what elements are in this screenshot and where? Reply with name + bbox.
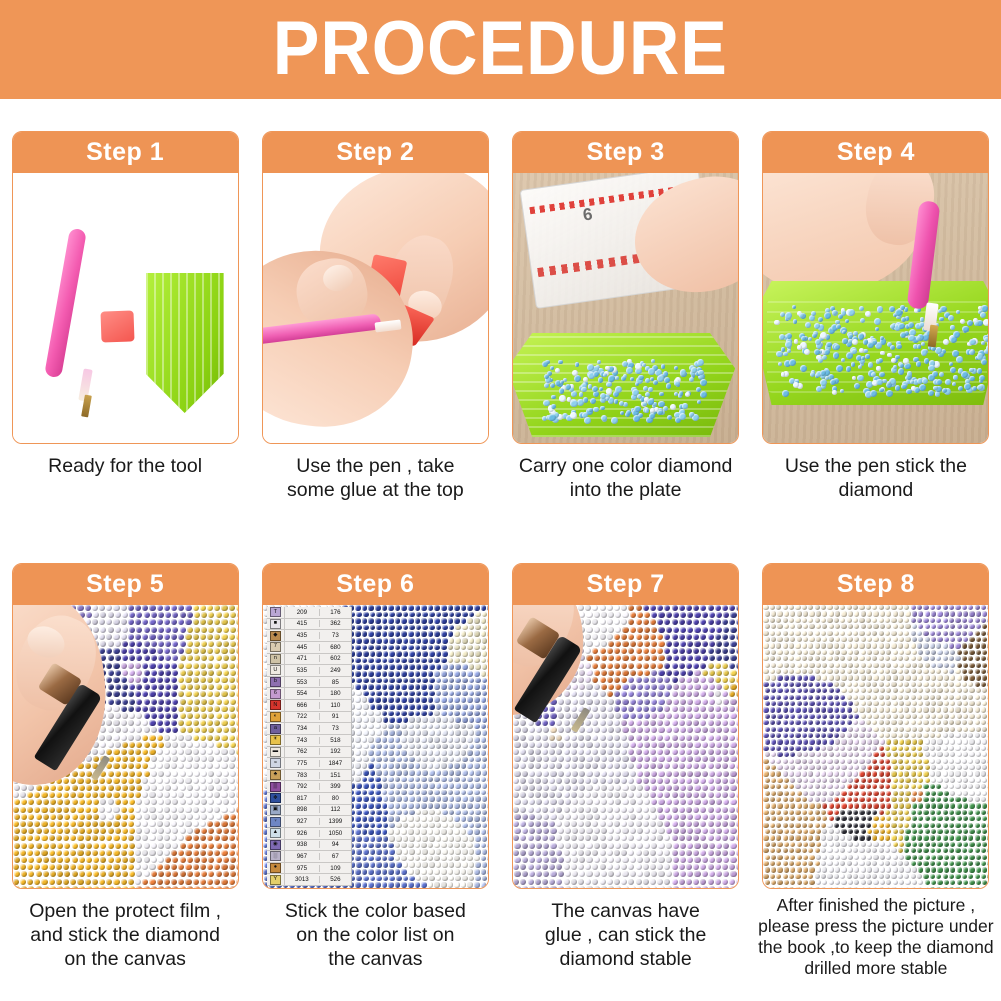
diamond-bead: [481, 645, 487, 651]
diamond-bead: [514, 756, 520, 762]
diamond-bead: [535, 735, 541, 741]
diamond-bead: [180, 727, 186, 733]
diamond-bead: [236, 807, 238, 813]
color-swatch: ◉: [270, 840, 281, 850]
diamond-bead: [434, 816, 440, 822]
diamond-bead: [650, 720, 656, 726]
diamond-bead: [454, 711, 460, 717]
diamond-bead: [687, 871, 693, 877]
diamond-bead: [13, 879, 19, 885]
diamond-bead: [565, 699, 571, 705]
diamond-bead: [108, 771, 114, 777]
diamond-bead: [389, 810, 395, 816]
diamond-bead: [355, 631, 361, 637]
color-swatch: 7: [270, 642, 281, 652]
diamond-bead: [229, 850, 235, 856]
diamond-bead: [382, 790, 388, 796]
diamond-bead: [136, 684, 142, 690]
diamond-bead: [375, 803, 381, 809]
diamond-bead: [481, 750, 487, 756]
diamond-bead: [715, 619, 721, 625]
diamond-bead: [389, 704, 395, 710]
diamond-bead: [487, 618, 488, 624]
diamond-bead: [529, 857, 535, 863]
diamond-bead: [708, 691, 714, 697]
diamond-bead: [185, 720, 191, 726]
diamond-bead: [449, 823, 455, 829]
color-chart-count-cell: 85: [320, 679, 351, 686]
diamond-bead: [164, 706, 170, 712]
diamond-bead: [49, 807, 55, 813]
diamond-bead: [106, 763, 112, 769]
diamond-bead: [442, 757, 448, 763]
diamond-bead: [216, 828, 222, 834]
diamond-bead: [475, 651, 481, 657]
diamond-bead: [543, 785, 549, 791]
diamond-bead: [122, 612, 128, 618]
diamond-bead: [429, 744, 435, 750]
diamond-bead: [645, 392, 650, 397]
diamond-bead: [637, 771, 643, 777]
diamond-bead: [559, 395, 566, 402]
diamond-bead: [122, 627, 128, 633]
diamond-bead: [628, 735, 634, 741]
diamond-bead: [594, 871, 600, 877]
diamond-bead: [549, 835, 555, 841]
step-7-photo: [513, 605, 738, 888]
diamond-bead: [388, 882, 394, 888]
diamond-bead: [637, 394, 642, 399]
diamond-bead: [529, 799, 535, 805]
color-chart-row: ♣783151: [267, 770, 351, 782]
diamond-bead: [664, 677, 670, 683]
diamond-bead: [221, 821, 227, 827]
diamond-bead: [700, 821, 706, 827]
diamond-bead: [700, 749, 706, 755]
diamond-bead: [178, 864, 184, 870]
diamond-bead: [193, 691, 199, 697]
diamond-bead: [513, 720, 519, 726]
diamond-bead: [368, 605, 374, 611]
diamond-bead: [64, 785, 70, 791]
diamond-bead: [368, 658, 374, 664]
diamond-bead: [672, 648, 678, 654]
diamond-bead: [216, 799, 222, 805]
diamond-bead: [722, 720, 728, 726]
diamond-bead: [395, 777, 401, 783]
diamond-bead: [122, 742, 128, 748]
diamond-bead: [194, 684, 200, 690]
diamond-bead: [93, 756, 99, 762]
diamond-bead: [172, 871, 178, 877]
diamond-bead: [20, 864, 26, 870]
diamond-bead: [723, 785, 729, 791]
diamond-bead: [106, 735, 112, 741]
diamond-bead: [194, 641, 200, 647]
diamond-bead: [687, 670, 693, 676]
diamond-bead: [355, 790, 361, 796]
diamond-bead: [449, 836, 455, 842]
diamond-bead: [475, 638, 481, 644]
diamond-bead: [928, 390, 934, 396]
diamond-bead: [615, 670, 621, 676]
diamond-bead: [172, 814, 178, 820]
diamond-bead: [207, 634, 213, 640]
diamond-bead: [208, 670, 214, 676]
diamond-bead: [49, 792, 55, 798]
diamond-bead: [601, 699, 607, 705]
diamond-bead: [578, 605, 584, 611]
diamond-bead: [673, 684, 679, 690]
diamond-bead: [201, 785, 207, 791]
diamond-bead: [395, 631, 401, 637]
diamond-bead: [115, 699, 121, 705]
diamond-bead: [115, 814, 121, 820]
diamond-bead: [594, 742, 600, 748]
step-card-1-frame: Step 1: [12, 131, 239, 444]
diamond-bead: [730, 799, 736, 805]
diamond-bead: [442, 876, 448, 882]
diamond-bead: [605, 366, 610, 371]
diamond-bead: [77, 792, 83, 798]
diamond-bead: [475, 862, 481, 868]
diamond-bead: [729, 619, 735, 625]
diamond-bead: [664, 792, 670, 798]
diamond-bead: [824, 349, 830, 355]
diamond-bead: [672, 879, 678, 885]
diamond-bead: [558, 886, 564, 888]
diamond-bead: [729, 634, 735, 640]
diamond-bead: [482, 770, 488, 776]
color-chart-count-cell: 1050: [320, 830, 351, 837]
diamond-bead: [657, 605, 663, 611]
diamond-bead: [481, 724, 487, 730]
diamond-bead: [730, 871, 736, 877]
diamond-bead: [614, 821, 620, 827]
diamond-bead: [401, 697, 407, 703]
diamond-bead: [922, 378, 928, 384]
step-card-6-frame: Step 6 T209176■415362◆435737445680n47160…: [262, 563, 489, 889]
diamond-bead: [136, 857, 142, 863]
diamond-bead: [158, 886, 164, 888]
color-chart-row: ▲9261050: [267, 828, 351, 840]
diamond-bead: [630, 771, 636, 777]
diamond-bead: [208, 771, 214, 777]
diamond-bead: [592, 648, 598, 654]
diamond-bead: [106, 807, 112, 813]
diamond-bead: [122, 799, 128, 805]
diamond-bead: [421, 882, 427, 888]
diamond-bead: [673, 771, 679, 777]
diamond-bead: [108, 684, 114, 690]
diamond-bead: [362, 869, 368, 875]
diamond-bead: [403, 810, 409, 816]
diamond-bead: [72, 886, 78, 888]
color-chart-count-cell: 73: [320, 725, 351, 732]
color-chart-row: ♀9271399: [267, 816, 351, 828]
diamond-bead: [428, 869, 434, 875]
diamond-bead: [536, 799, 542, 805]
diamond-bead: [736, 663, 738, 669]
diamond-bead: [969, 350, 975, 356]
diamond-bead: [716, 857, 722, 863]
diamond-bead: [797, 345, 801, 349]
diamond-bead: [77, 879, 83, 885]
diamond-bead: [121, 864, 127, 870]
diamond-bead: [475, 849, 481, 855]
diamond-bead: [429, 730, 435, 736]
diamond-bead: [122, 684, 128, 690]
diamond-bead: [14, 843, 20, 849]
diamond-bead: [592, 792, 598, 798]
diamond-bead: [363, 638, 369, 644]
diamond-bead: [601, 627, 607, 633]
diamond-bead: [355, 645, 361, 651]
diamond-bead: [708, 879, 714, 885]
diamond-bead: [680, 627, 686, 633]
diamond-bead: [700, 391, 707, 398]
diamond-bead: [628, 663, 634, 669]
diamond-bead: [214, 821, 220, 827]
diamond-bead: [355, 829, 361, 835]
diamond-bead: [408, 724, 414, 730]
diamond-bead: [634, 406, 640, 412]
diamond-bead: [375, 777, 381, 783]
diamond-bead: [236, 735, 238, 741]
diamond-bead: [693, 763, 699, 769]
diamond-bead: [607, 677, 613, 683]
diamond-bead: [723, 641, 729, 647]
diamond-bead: [693, 749, 699, 755]
diamond-bead: [953, 331, 960, 338]
diamond-bead: [723, 742, 729, 748]
color-chart-symbol-cell: 6: [267, 688, 285, 699]
diamond-bead: [723, 655, 729, 661]
diamond-bead: [151, 612, 157, 618]
diamond-bead: [637, 641, 643, 647]
diamond-bead: [586, 684, 592, 690]
diamond-bead: [469, 612, 475, 618]
diamond-bead: [229, 792, 235, 798]
diamond-bead: [115, 627, 121, 633]
diamond-bead: [645, 408, 649, 412]
diamond-bead: [151, 742, 157, 748]
diamond-bead: [135, 807, 141, 813]
diamond-bead: [14, 857, 20, 863]
diamond-bead: [542, 720, 548, 726]
diamond-bead: [650, 706, 656, 712]
diamond-bead: [658, 857, 664, 863]
color-chart-count-cell: 518: [320, 737, 351, 744]
diamond-bead: [201, 684, 207, 690]
diamond-bead: [355, 671, 361, 677]
diamond-bead: [135, 835, 141, 841]
diamond-bead: [666, 843, 672, 849]
diamond-bead: [194, 871, 200, 877]
diamond-bead: [448, 856, 454, 862]
diamond-bead: [20, 807, 26, 813]
diamond-bead: [571, 763, 577, 769]
diamond-bead: [207, 792, 213, 798]
diamond-bead: [551, 395, 555, 399]
diamond-bead: [128, 835, 134, 841]
diamond-bead: [514, 843, 520, 849]
diamond-bead: [415, 684, 421, 690]
diamond-bead: [467, 856, 473, 862]
diamond-bead: [736, 677, 738, 683]
diamond-bead: [522, 799, 528, 805]
diamond-bead: [194, 612, 200, 618]
color-chart-symbol-cell: ░: [267, 851, 285, 862]
diamond-bead: [535, 821, 541, 827]
diamond-bead: [389, 796, 395, 802]
diamond-bead: [434, 869, 440, 875]
diamond-bead: [448, 697, 454, 703]
diamond-bead: [149, 706, 155, 712]
diamond-bead: [901, 317, 906, 322]
diamond-bead: [815, 339, 821, 345]
diamond-bead: [592, 807, 598, 813]
diamond-bead: [408, 843, 414, 849]
diamond-bead: [108, 843, 114, 849]
diamond-bead: [482, 678, 488, 684]
diamond-bead: [121, 879, 127, 885]
diamond-bead: [396, 836, 402, 842]
diamond-bead: [600, 850, 606, 856]
diamond-bead: [644, 871, 650, 877]
diamond-bead: [535, 778, 541, 784]
diamond-bead: [428, 605, 434, 611]
diamond-bead: [115, 713, 121, 719]
diamond-bead: [106, 835, 112, 841]
diamond-bead: [594, 699, 600, 705]
diamond-bead: [428, 829, 434, 835]
diamond-bead: [100, 814, 106, 820]
color-chart-count-cell: 249: [320, 667, 351, 674]
diamond-bead: [700, 605, 706, 611]
diamond-bead: [680, 670, 686, 676]
diamond-bead: [729, 663, 735, 669]
diamond-bead: [236, 648, 238, 654]
diamond-bead: [693, 879, 699, 885]
diamond-bead: [666, 756, 672, 762]
diamond-bead: [382, 843, 388, 849]
color-chart-dmc-cell: 535: [285, 667, 320, 674]
diamond-bead: [396, 651, 402, 657]
diamond-bead: [482, 862, 488, 868]
diamond-bead: [376, 691, 382, 697]
diamond-bead: [223, 771, 229, 777]
diamond-bead: [630, 727, 636, 733]
diamond-bead: [621, 605, 627, 611]
diamond-bead: [113, 778, 119, 784]
diamond-bead: [422, 744, 428, 750]
diamond-bead: [467, 777, 473, 783]
diamond-bead: [686, 763, 692, 769]
diamond-bead: [415, 790, 421, 796]
diamond-bead: [408, 684, 414, 690]
diamond-bead: [376, 757, 382, 763]
diamond-bead: [474, 816, 480, 822]
diamond-bead: [628, 807, 634, 813]
diamond-bead: [108, 828, 114, 834]
color-chart-count-cell: 110: [320, 702, 351, 709]
diamond-bead: [680, 756, 686, 762]
diamond-bead: [214, 763, 220, 769]
diamond-bead: [415, 829, 421, 835]
diamond-bead: [77, 605, 83, 611]
color-chart-symbol-cell: b: [267, 677, 285, 688]
diamond-bead: [738, 641, 739, 647]
diamond-bead: [221, 605, 227, 611]
diamond-bead: [136, 627, 142, 633]
diamond-bead: [716, 684, 722, 690]
diamond-bead: [564, 821, 570, 827]
diamond-bead: [801, 336, 806, 341]
diamond-bead: [455, 638, 461, 644]
diamond-bead: [680, 857, 686, 863]
diamond-bead: [672, 706, 678, 712]
diamond-bead: [615, 771, 621, 777]
diamond-bead: [356, 664, 362, 670]
diamond-bead: [535, 879, 541, 885]
diamond-bead: [28, 814, 34, 820]
diamond-bead: [151, 843, 157, 849]
diamond-bead: [99, 864, 105, 870]
diamond-bead: [223, 814, 229, 820]
diamond-bead: [585, 879, 591, 885]
diamond-bead: [121, 735, 127, 741]
diamond-bead: [630, 627, 636, 633]
diamond-bead: [469, 744, 475, 750]
diamond-bead: [158, 756, 164, 762]
diamond-bead: [370, 638, 376, 644]
diamond-bead: [200, 735, 206, 741]
diamond-bead: [428, 763, 434, 769]
diamond-bead: [223, 871, 229, 877]
diamond-bead: [686, 850, 692, 856]
diamond-bead: [679, 879, 685, 885]
diamond-bead: [657, 663, 663, 669]
diamond-bead: [355, 777, 361, 783]
step-6-photo: T209176■415362◆435737445680n471602U53524…: [263, 605, 488, 888]
diamond-bead: [194, 886, 200, 888]
diamond-bead: [207, 821, 213, 827]
diamond-bead: [715, 691, 721, 697]
diamond-bead: [522, 742, 528, 748]
diamond-bead: [614, 864, 620, 870]
diamond-bead: [57, 886, 63, 888]
diamond-bead: [106, 720, 112, 726]
diamond-bead: [614, 850, 620, 856]
diamond-bead: [408, 711, 414, 717]
diamond-bead: [375, 750, 381, 756]
diamond-bead: [100, 871, 106, 877]
color-chart-count-cell: 362: [320, 620, 351, 627]
diamond-bead: [950, 367, 956, 373]
diamond-bead: [229, 749, 235, 755]
diamond-bead: [611, 417, 618, 424]
diamond-bead: [401, 763, 407, 769]
diamond-bead: [382, 631, 388, 637]
diamond-bead: [643, 864, 649, 870]
diamond-bead: [657, 677, 663, 683]
diamond-bead: [356, 638, 362, 644]
diamond-bead: [401, 631, 407, 637]
diamond-bead: [592, 720, 598, 726]
diamond-bead: [115, 612, 121, 618]
diamond-bead: [187, 655, 193, 661]
